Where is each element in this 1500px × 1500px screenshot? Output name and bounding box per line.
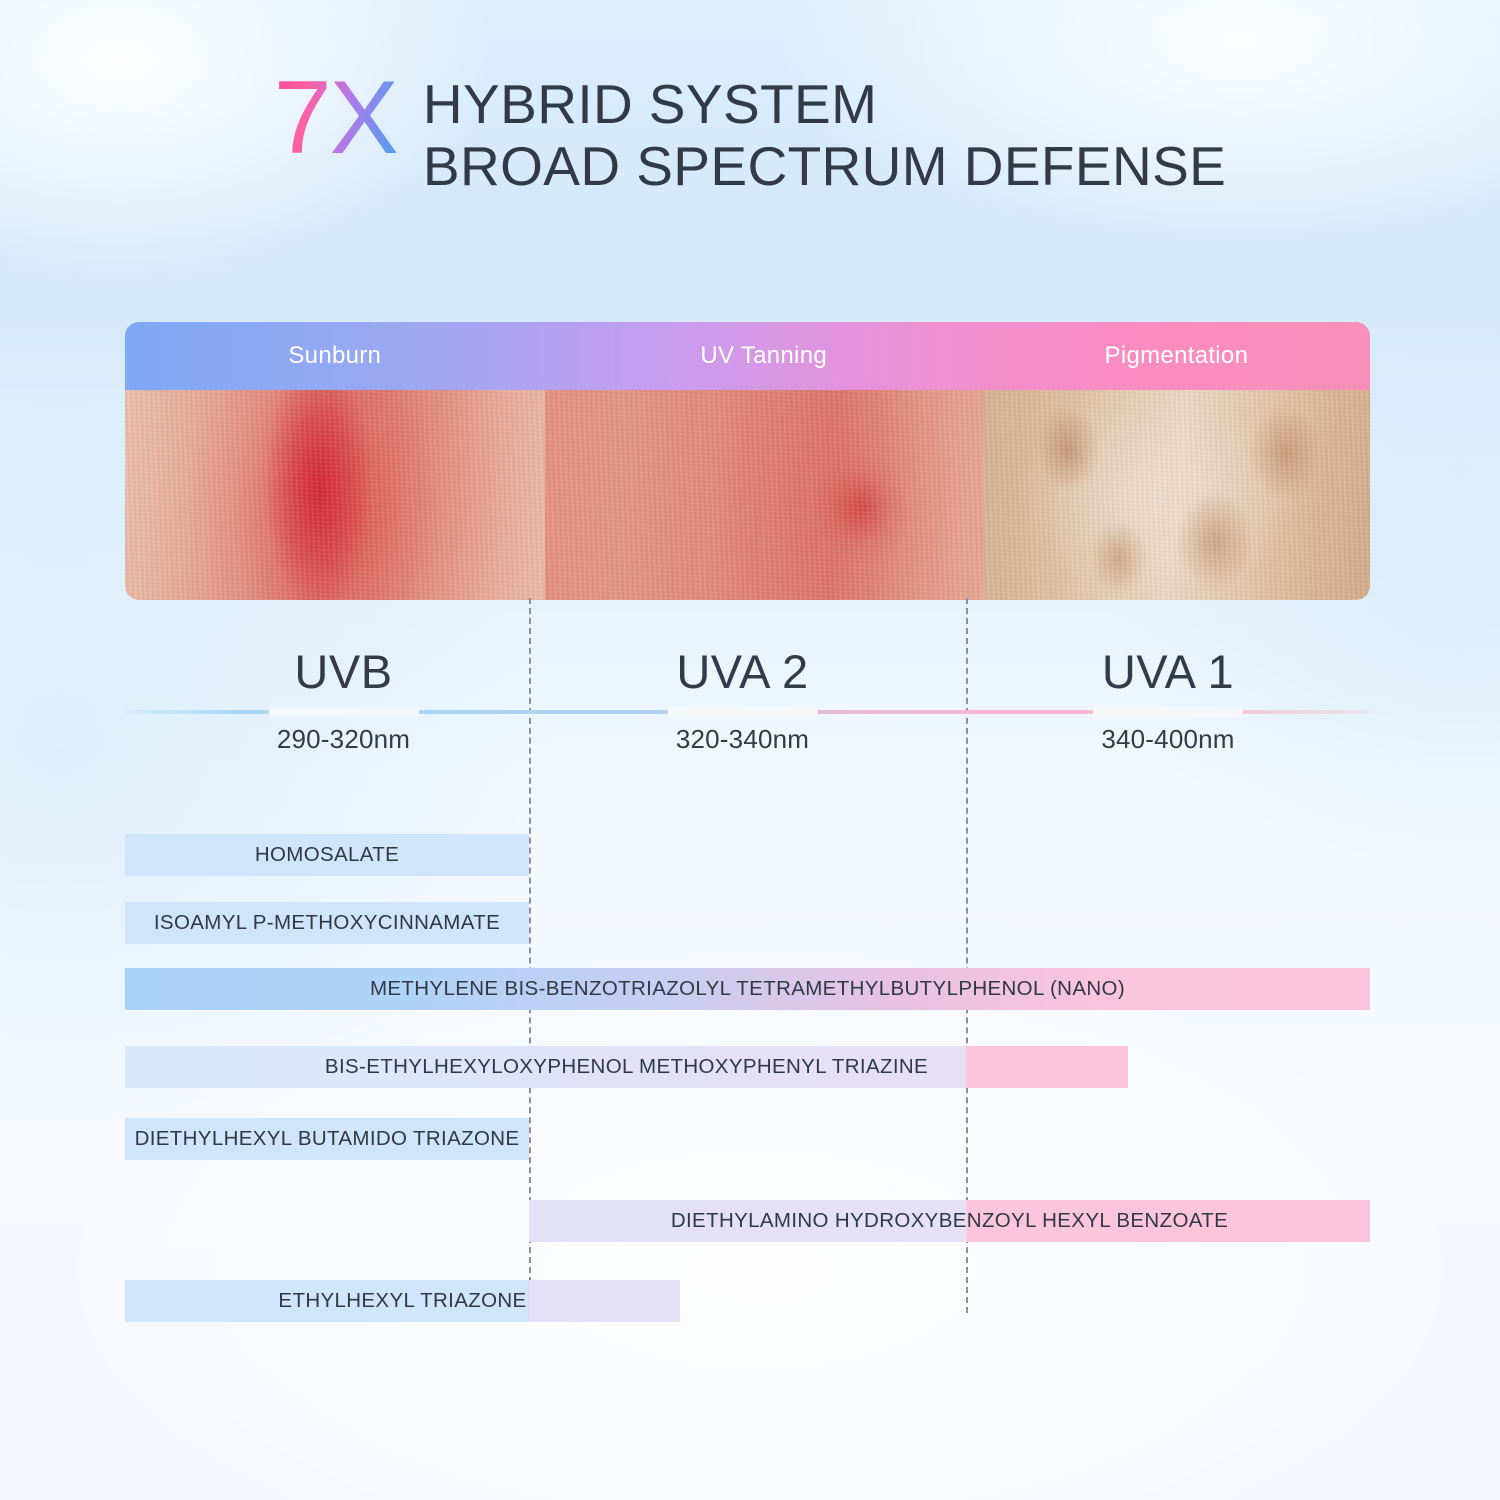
- ingredient-label: METHYLENE BIS-BENZOTRIAZOLYL TETRAMETHYL…: [370, 977, 1125, 1001]
- ingredient-label: ISOAMYL P-METHOXYCINNAMATE: [154, 911, 500, 935]
- ingredient-bar-ethylhexyl-triazone: ETHYLHEXYL TRIAZONE: [125, 1280, 680, 1322]
- ingredient-label: HOMOSALATE: [255, 843, 399, 867]
- ingredient-label: BIS-ETHYLHEXYLOXYPHENOL METHOXYPHENYL TR…: [325, 1055, 928, 1079]
- band-name: UVA 1: [966, 648, 1370, 695]
- ingredient-bar-homosalate: HOMOSALATE: [125, 834, 529, 876]
- infographic-root: 7X HYBRID SYSTEM BROAD SPECTRUM DEFENSE …: [0, 0, 1500, 1500]
- ingredient-label: DIETHYLAMINO HYDROXYBENZOYL HEXYL BENZOA…: [671, 1209, 1228, 1233]
- ingredient-bar-isoamyl-p-methoxycinnamate: ISOAMYL P-METHOXYCINNAMATE: [125, 902, 529, 944]
- ingredient-label: DIETHYLHEXYL BUTAMIDO TRIAZONE: [135, 1127, 520, 1151]
- ingredient-bar-methylene-bis-benzotriazolyl: METHYLENE BIS-BENZOTRIAZOLYL TETRAMETHYL…: [125, 968, 1370, 1010]
- ingredient-bar-diethylhexyl-butamido-triazone: DIETHYLHEXYL BUTAMIDO TRIAZONE: [125, 1118, 529, 1160]
- ingredient-bar-diethylamino-hydroxybenzoyl-hexyl-benzoate: DIETHYLAMINO HYDROXYBENZOYL HEXYL BENZOA…: [529, 1200, 1370, 1242]
- ingredient-bar-bis-ethylhexyloxyphenol: BIS-ETHYLHEXYLOXYPHENOL METHOXYPHENYL TR…: [125, 1046, 1128, 1088]
- band-range: 340-400nm: [966, 724, 1370, 755]
- ingredient-label: ETHYLHEXYL TRIAZONE: [278, 1289, 526, 1313]
